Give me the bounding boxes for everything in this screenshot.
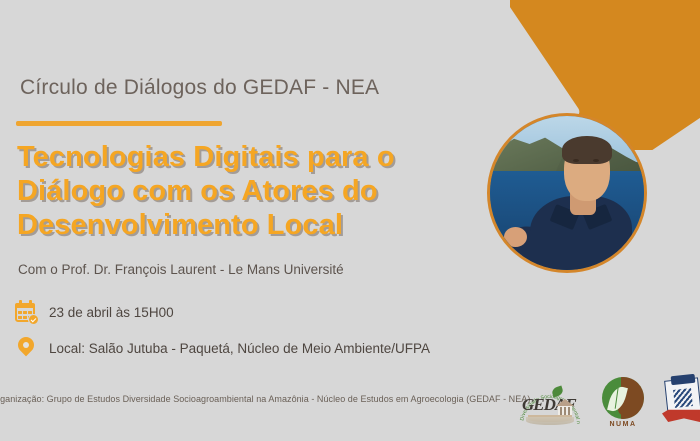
event-title: Tecnologias Digitais para o Diálogo com … (17, 141, 487, 243)
numa-wordmark: NUMA (598, 421, 648, 428)
calendar-check-icon (14, 300, 38, 324)
portrait-hair (562, 136, 611, 164)
gedaf-logo: Diversidade Socioagroambiental na Amazôn… (516, 377, 584, 435)
gedaf-water-shape (526, 417, 574, 425)
portrait-hand (504, 227, 527, 247)
event-poster: Círculo de Diálogos do GEDAF - NEA Tecno… (0, 0, 700, 441)
event-place-text: Local: Salão Jutuba - Paquetá, Núcleo de… (49, 341, 430, 356)
gedaf-house-icon (556, 399, 574, 416)
speaker-line: Com o Prof. Dr. François Laurent - Le Ma… (18, 262, 344, 277)
event-date-row: 23 de abril às 15H00 (14, 300, 174, 324)
speaker-portrait (487, 113, 647, 273)
numa-emblem (602, 377, 644, 419)
ufpa-ribbon (662, 409, 700, 422)
orange-divider-rule (16, 121, 222, 126)
map-pin-icon (14, 336, 38, 360)
ufpa-logo (662, 377, 700, 435)
logo-strip: Diversidade Socioagroambiental na Amazôn… (516, 377, 700, 435)
organizer-footer: Organização: Grupo de Estudos Diversidad… (0, 394, 530, 404)
ufpa-emblem-mark (673, 388, 693, 408)
event-place-row: Local: Salão Jutuba - Paquetá, Núcleo de… (14, 336, 430, 360)
numa-logo: NUMA (598, 377, 648, 435)
event-series-kicker: Círculo de Diálogos do GEDAF - NEA (20, 76, 379, 100)
event-date-text: 23 de abril às 15H00 (49, 305, 174, 320)
